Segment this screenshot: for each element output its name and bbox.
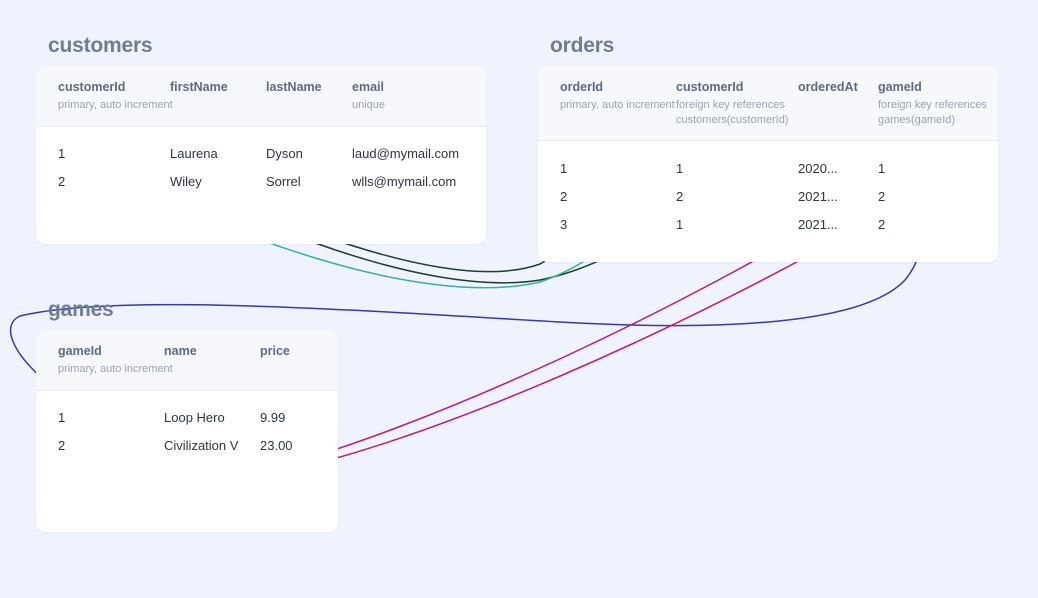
table-orders: orderId primary, auto increment customer…: [538, 66, 998, 262]
column-header-name[interactable]: name: [164, 330, 260, 390]
cell-gameid: 2: [878, 210, 998, 238]
cell-price: 9.99: [260, 390, 338, 432]
table-row[interactable]: 2 Civilization V 23.00: [36, 432, 338, 460]
cell-orderedat: 2021...: [798, 182, 878, 210]
table-empty-space: [36, 196, 486, 220]
cell-orderedat: 2020...: [798, 141, 878, 183]
table-row[interactable]: 1 Laurena Dyson laud@mymail.com: [36, 126, 486, 168]
table-empty-space: [36, 508, 338, 532]
column-name: orderedAt: [798, 80, 868, 96]
table-header-row: orderId primary, auto increment customer…: [538, 66, 998, 141]
cell-orderedat: 2021...: [798, 210, 878, 238]
column-name: name: [164, 344, 250, 360]
column-meta: primary, auto increment: [560, 98, 666, 113]
cell-orderid: 3: [538, 210, 676, 238]
cell-price: 23.00: [260, 432, 338, 460]
column-header-customerid[interactable]: customerId primary, auto increment: [36, 66, 170, 126]
cell-customerid: 1: [676, 210, 798, 238]
table-title-games: games: [48, 298, 338, 321]
schema-canvas: customers customerId primary, auto incre…: [0, 0, 1038, 598]
column-name: customerId: [58, 80, 160, 96]
cell-customerid: 1: [676, 141, 798, 183]
column-header-gameid[interactable]: gameId primary, auto increment: [36, 330, 164, 390]
table-row[interactable]: 1 Loop Hero 9.99: [36, 390, 338, 432]
table-block-customers: customers customerId primary, auto incre…: [36, 34, 486, 244]
cell-customerid: 2: [36, 168, 170, 196]
cell-orderid: 2: [538, 182, 676, 210]
column-name: orderId: [560, 80, 666, 96]
cell-gameid: 2: [878, 182, 998, 210]
table-card-orders: orderId primary, auto increment customer…: [538, 66, 998, 262]
column-name: lastName: [266, 80, 342, 96]
table-row[interactable]: 3 1 2021... 2: [538, 210, 998, 238]
table-empty-space: [36, 460, 338, 484]
table-row[interactable]: 1 1 2020... 1: [538, 141, 998, 183]
cell-gameid: 1: [36, 390, 164, 432]
table-header-row: gameId primary, auto increment name pric…: [36, 330, 338, 390]
column-header-email[interactable]: email unique: [352, 66, 486, 126]
cell-lastname: Dyson: [266, 126, 352, 168]
cell-customerid: 1: [36, 126, 170, 168]
cell-lastname: Sorrel: [266, 168, 352, 196]
column-meta: foreign key references games(gameId): [878, 98, 994, 128]
table-row[interactable]: 2 Wiley Sorrel wlls@mymail.com: [36, 168, 486, 196]
column-name: firstName: [170, 80, 256, 96]
cell-firstname: Laurena: [170, 126, 266, 168]
table-row[interactable]: 2 2 2021... 2: [538, 182, 998, 210]
column-name: price: [260, 344, 328, 360]
column-header-gameid[interactable]: gameId foreign key references games(game…: [878, 66, 998, 141]
table-games: gameId primary, auto increment name pric…: [36, 330, 338, 531]
column-meta: unique: [352, 98, 476, 113]
column-header-customerid[interactable]: customerId foreign key references custom…: [676, 66, 798, 141]
column-header-lastname[interactable]: lastName: [266, 66, 352, 126]
table-title-customers: customers: [48, 34, 486, 57]
table-customers: customerId primary, auto increment first…: [36, 66, 486, 243]
cell-email: wlls@mymail.com: [352, 168, 486, 196]
cell-firstname: Wiley: [170, 168, 266, 196]
column-header-orderid[interactable]: orderId primary, auto increment: [538, 66, 676, 141]
cell-orderid: 1: [538, 141, 676, 183]
table-empty-space: [538, 238, 998, 262]
column-header-price[interactable]: price: [260, 330, 338, 390]
table-header-row: customerId primary, auto increment first…: [36, 66, 486, 126]
table-card-games: gameId primary, auto increment name pric…: [36, 330, 338, 531]
column-meta: primary, auto increment: [58, 362, 154, 377]
cell-gameid: 2: [36, 432, 164, 460]
table-title-orders: orders: [550, 34, 998, 57]
cell-customerid: 2: [676, 182, 798, 210]
table-block-orders: orders orderId primary, auto increment c…: [538, 34, 998, 262]
column-name: email: [352, 80, 476, 96]
column-name: gameId: [878, 80, 988, 96]
column-name: gameId: [58, 344, 154, 360]
table-block-games: games gameId primary, auto increment nam…: [36, 298, 338, 532]
column-meta: foreign key references customers(custome…: [676, 98, 794, 128]
cell-name: Loop Hero: [164, 390, 260, 432]
column-header-orderedat[interactable]: orderedAt: [798, 66, 878, 141]
cell-email: laud@mymail.com: [352, 126, 486, 168]
column-name: customerId: [676, 80, 788, 96]
table-empty-space: [36, 220, 486, 244]
column-header-firstname[interactable]: firstName: [170, 66, 266, 126]
column-meta: primary, auto increment: [58, 98, 160, 113]
cell-gameid: 1: [878, 141, 998, 183]
cell-name: Civilization V: [164, 432, 260, 460]
table-card-customers: customerId primary, auto increment first…: [36, 66, 486, 243]
table-empty-space: [36, 484, 338, 508]
